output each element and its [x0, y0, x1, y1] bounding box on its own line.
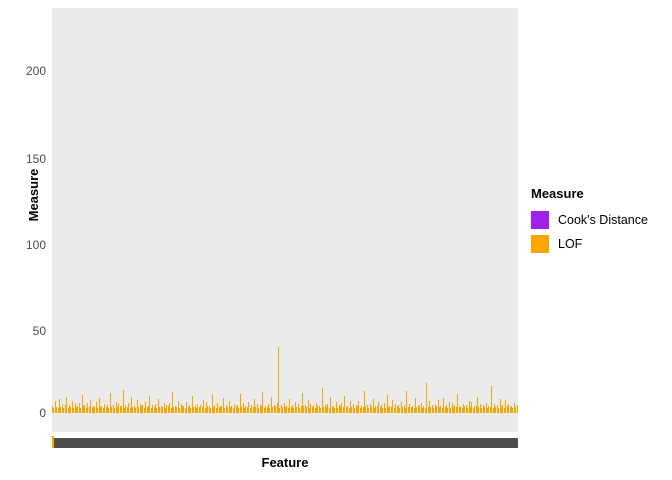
bar-series-lof — [52, 8, 518, 413]
legend-label-cooks-distance: Cook's Distance — [558, 213, 648, 227]
legend-label-lof: LOF — [558, 237, 582, 251]
legend-title: Measure — [531, 186, 671, 201]
x-axis-overplotted-labels — [52, 438, 518, 448]
x-axis-first-tick — [52, 436, 54, 448]
legend-key-lof — [531, 235, 549, 253]
y-tick-label: 200 — [10, 65, 46, 77]
legend-key-cooks-distance — [531, 211, 549, 229]
y-tick-label: 150 — [10, 153, 46, 165]
y-tick-label: 100 — [10, 239, 46, 251]
legend-item-lof[interactable]: LOF — [531, 233, 671, 255]
bar — [517, 405, 518, 413]
chart-canvas: Measure 0 50 100 150 200 Feature Measure… — [0, 0, 672, 480]
legend-item-cooks-distance[interactable]: Cook's Distance — [531, 209, 671, 231]
plot-panel — [52, 8, 518, 432]
y-axis-ticks: 0 50 100 150 200 — [10, 0, 46, 480]
x-axis-label: Feature — [52, 455, 518, 470]
y-tick-label: 50 — [10, 325, 46, 337]
y-tick-label: 0 — [10, 407, 46, 419]
legend: Measure Cook's Distance LOF — [531, 186, 671, 257]
bar — [278, 347, 279, 413]
